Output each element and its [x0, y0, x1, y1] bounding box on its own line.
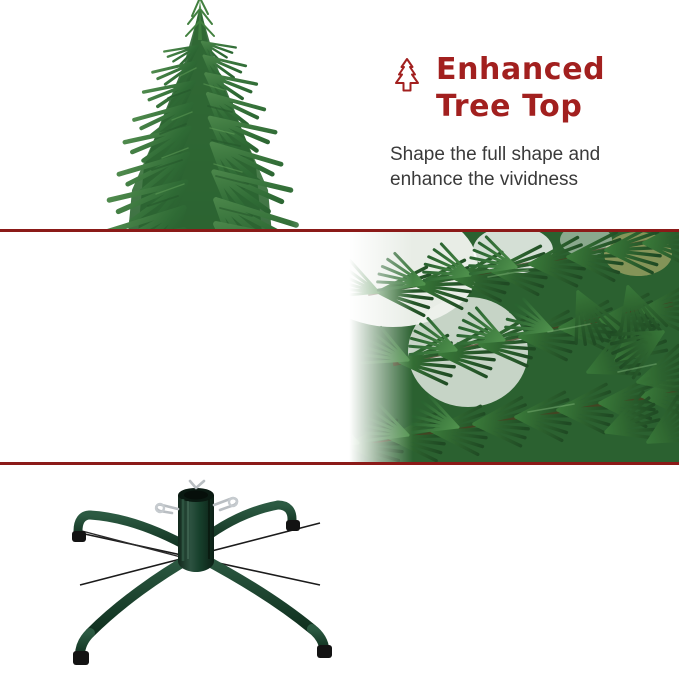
section-body: Shape the full shape and enhance the viv…	[390, 142, 668, 192]
metal-tree-stand-photo	[20, 465, 365, 673]
pine-tree-icon	[390, 56, 424, 101]
photo-fade-left	[40, 0, 100, 229]
section-enhanced-tree-top: Enhanced Tree Top Shape the full shape a…	[0, 0, 679, 229]
heading-row-enhanced-tree-top: Enhanced Tree Top	[390, 52, 668, 125]
section-pvc-tips: PVC Tips The tree is easy to fluff and t…	[0, 232, 679, 462]
text-block-enhanced-tree-top: Enhanced Tree Top Shape the full shape a…	[390, 52, 668, 192]
photo-fade-right	[290, 0, 360, 229]
photo-fade-left	[338, 232, 413, 462]
section-heading: Enhanced Tree Top	[436, 52, 605, 125]
section-sturdy-base: Sturdy Base Sturdy cross-shaped metal ba…	[0, 465, 679, 673]
pvc-needles-closeup-photo	[338, 232, 679, 462]
christmas-tree-top-photo	[40, 0, 360, 229]
feature-infographic: Enhanced Tree Top Shape the full shape a…	[0, 0, 679, 673]
